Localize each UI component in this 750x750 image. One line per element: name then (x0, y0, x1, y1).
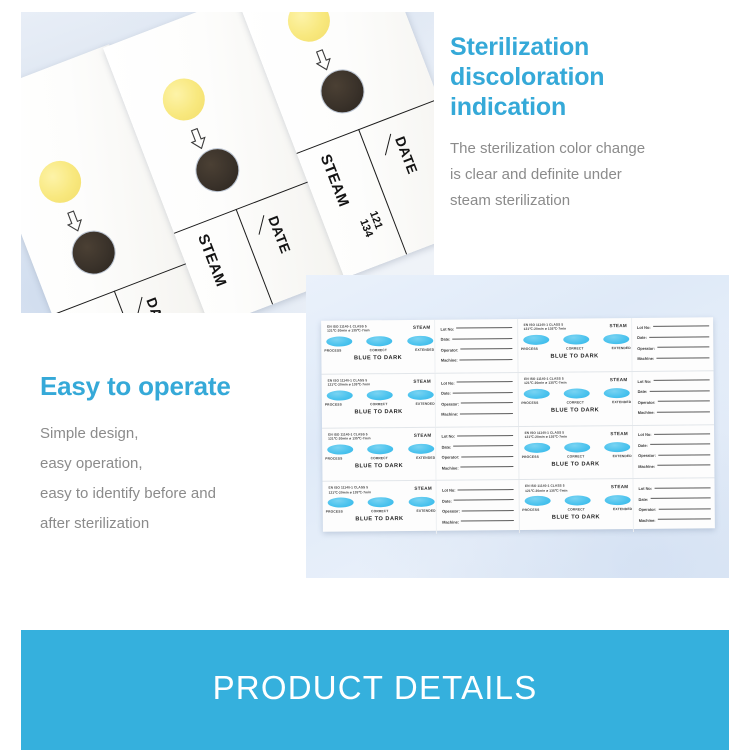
label-field-row: Date: (638, 493, 710, 504)
sterilization-label: EN ISO 11140-1 CLASS 5121℃-20min ø 135℃-… (519, 425, 715, 479)
label-field-row: Machine: (637, 353, 709, 364)
indicator-name-process: PROCESS (521, 347, 538, 351)
label-field-writeline (453, 392, 513, 394)
indicator-dot-unprocessed-1 (33, 155, 87, 209)
indicator-oval-extended (604, 388, 630, 398)
label-fields-area: Lot No:Date:Operator:Machine: (631, 371, 714, 424)
sterilization-label: EN ISO 11140-1 CLASS 5121℃-20min ø 135℃-… (322, 373, 519, 427)
label-field-name: Operator: (441, 347, 459, 352)
label-color-change-text: BLUE TO DARK (321, 355, 434, 362)
label-field-row: Machine: (441, 408, 513, 419)
label-indicator-area: EN ISO 11140-1 CLASS 5121℃-20min ø 135℃-… (518, 318, 632, 372)
sterilization-label: EN ISO 11140-1 CLASS 5121℃-20min ø 135℃-… (518, 317, 714, 371)
indicator-name-correct: CORRECT (370, 348, 387, 352)
arrow-down-icon-2 (187, 126, 210, 152)
label-field-row: Lot No: (441, 431, 513, 442)
body-line-4: after sterilization (40, 509, 305, 539)
label-fields-area: Lot No:Date:Operator:Machine: (435, 427, 518, 480)
feature-body-easy-operate: Simple design, easy operation, easy to i… (40, 419, 305, 539)
label-color-change-text: BLUE TO DARK (519, 461, 632, 468)
indicator-oval-process (327, 444, 353, 454)
indicator-oval-extended (605, 495, 631, 505)
body-line-1: Simple design, (40, 419, 305, 449)
indicator-oval-extended (603, 334, 629, 344)
label-field-row: Date: (441, 387, 513, 398)
label-field-name: Operator: (442, 509, 460, 514)
card-date-mark-3 (385, 134, 391, 156)
product-detail-page: STEAM DATE STEAM DATE STEAM (0, 0, 750, 750)
body-line-3: steam sterilization (450, 188, 730, 214)
feature-body-sterilization: The sterilization color change is clear … (450, 136, 730, 214)
label-field-writeline (457, 435, 513, 436)
indicator-oval-group (524, 442, 631, 453)
indicator-name-extended: EXTENDED (613, 507, 632, 511)
indicator-name-extended: EXTENDED (613, 454, 632, 458)
indicator-name-group: PROCESSCORRECTEXTENDED (326, 509, 436, 514)
indicator-oval-correct (563, 334, 589, 344)
label-field-name: Operator: (639, 507, 657, 512)
label-field-writeline (456, 327, 512, 328)
indicator-oval-correct (564, 442, 590, 452)
label-color-change-text: BLUE TO DARK (323, 516, 436, 523)
label-indicator-area: EN ISO 11140-1 CLASS 5121℃-20min ø 135℃-… (322, 481, 436, 535)
indicator-name-correct: CORRECT (567, 454, 584, 458)
label-field-writeline (461, 456, 513, 457)
label-field-name: Operator: (442, 455, 460, 460)
label-field-row: Date: (638, 386, 710, 397)
product-details-banner: PRODUCT DETAILS (21, 630, 729, 750)
label-field-writeline (461, 520, 514, 521)
label-field-row: Machine: (639, 514, 711, 525)
label-field-writeline (460, 359, 513, 360)
label-field-row: Lot No: (638, 429, 710, 440)
label-field-writeline (460, 413, 513, 414)
indicator-dot-processed-3 (315, 64, 369, 118)
label-fields-area: Lot No:Date:Operator:Machine: (632, 425, 715, 478)
indicator-dot-processed-2 (190, 143, 244, 197)
label-field-name: Lot No: (638, 486, 652, 491)
indicator-name-group: PROCESSCORRECTEXTENDED (325, 455, 435, 460)
label-field-writeline (649, 390, 709, 392)
label-field-name: Machine: (441, 358, 458, 363)
indicator-dot-unprocessed-2 (157, 72, 211, 126)
indicator-name-extended: EXTENDED (612, 400, 631, 404)
heading-line-1: Sterilization (450, 32, 730, 62)
label-field-name: Machine: (442, 465, 459, 470)
feature-block-easy-operate: Easy to operate Simple design, easy oper… (40, 370, 305, 539)
label-sheet-row: EN ISO 11140-1 CLASS 5121℃-20min ø 135℃-… (321, 317, 713, 374)
arrow-down-icon-3 (312, 47, 335, 73)
label-field-row: Lot No: (440, 323, 512, 334)
label-field-name: Lot No: (441, 380, 455, 385)
label-field-name: Date: (442, 444, 452, 449)
feature-heading-easy-operate: Easy to operate (40, 370, 305, 402)
label-field-name: Lot No: (637, 325, 651, 330)
body-line-1: The sterilization color change (450, 136, 730, 162)
label-field-row: Operator: (441, 398, 513, 409)
card-divider-1 (52, 261, 193, 313)
indicator-name-correct: CORRECT (371, 509, 388, 513)
label-fields-area: Lot No:Date:Operator:Machine: (436, 480, 519, 533)
label-indicator-area: EN ISO 11140-1 CLASS 5121℃-20min ø 135℃-… (322, 373, 436, 427)
label-field-row: Machine: (442, 516, 514, 527)
card-date-text-3: DATE (392, 134, 421, 176)
sterilization-label: EN ISO 11140-1 CLASS 5121℃-20min ø 135℃-… (322, 426, 519, 480)
label-sheet-photo: EN ISO 11140-1 CLASS 5121℃-20min ø 135℃-… (306, 275, 729, 578)
card-divider-2 (174, 179, 315, 234)
label-field-writeline (658, 508, 710, 509)
label-color-change-text: BLUE TO DARK (322, 408, 435, 415)
label-field-row: Date: (638, 439, 710, 450)
label-sheet-row: EN ISO 11140-1 CLASS 5121℃-20min ø 135℃-… (322, 425, 714, 482)
indicator-name-correct: CORRECT (567, 400, 584, 404)
label-field-row: Lot No: (442, 484, 514, 495)
indicator-name-group: PROCESSCORRECTEXTENDED (521, 346, 631, 351)
label-field-row: Date: (442, 495, 514, 506)
label-field-name: Machine: (441, 412, 458, 417)
label-steam-text: STEAM (414, 432, 432, 437)
indicator-name-group: PROCESSCORRECTEXTENDED (522, 507, 632, 512)
label-field-writeline (460, 348, 512, 349)
label-indicator-area: EN ISO 11140-1 CLASS 5121℃-20min ø 135℃-… (519, 479, 633, 533)
indicator-oval-group (327, 389, 434, 400)
card-date-text-2: DATE (265, 214, 294, 256)
indicator-name-extended: EXTENDED (612, 346, 631, 350)
label-field-name: Date: (442, 498, 452, 503)
label-field-writeline (657, 347, 709, 348)
label-field-writeline (650, 444, 710, 446)
card-field-divider-1 (114, 290, 140, 313)
indicator-label-sheet: EN ISO 11140-1 CLASS 5121℃-20min ø 135℃-… (321, 317, 715, 531)
indicator-oval-process (326, 336, 352, 346)
indicator-name-extended: EXTENDED (416, 455, 435, 459)
indicator-name-extended: EXTENDED (416, 401, 435, 405)
label-field-name: Operator: (441, 401, 459, 406)
indicator-oval-extended (408, 497, 434, 507)
indicator-oval-extended (408, 443, 434, 453)
sterilization-label: EN ISO 11140-1 CLASS 5121℃-20min ø 135℃-… (321, 319, 518, 373)
indicator-oval-extended (407, 389, 433, 399)
sterilization-cards-photo: STEAM DATE STEAM DATE STEAM (21, 12, 434, 313)
label-field-writeline (654, 433, 710, 434)
label-field-writeline (657, 400, 709, 401)
indicator-oval-group (328, 497, 435, 508)
label-field-row: Lot No: (637, 375, 709, 386)
indicator-oval-process (328, 498, 354, 508)
label-field-name: Machine: (638, 410, 655, 415)
label-steam-text: STEAM (413, 379, 431, 384)
label-field-writeline (658, 518, 711, 519)
label-field-writeline (461, 466, 514, 467)
label-field-writeline (654, 487, 710, 488)
label-field-name: Operator: (637, 346, 655, 351)
indicator-oval-correct (367, 336, 393, 346)
card-steam-text-3: STEAM (317, 152, 353, 209)
label-field-row: Date: (637, 332, 709, 343)
label-field-name: Machine: (639, 517, 656, 522)
indicator-name-group: PROCESSCORRECTEXTENDED (325, 401, 435, 406)
indicator-dot-unprocessed-3 (282, 12, 336, 48)
banner-title: PRODUCT DETAILS (213, 669, 538, 707)
label-field-writeline (461, 402, 513, 403)
label-field-row: Machine: (442, 462, 514, 473)
body-line-2: is clear and definite under (450, 162, 730, 188)
label-field-name: Date: (638, 389, 648, 394)
arrow-down-icon-1 (63, 208, 86, 234)
label-field-row: Lot No: (441, 377, 513, 388)
indicator-oval-extended (604, 442, 630, 452)
label-field-name: Lot No: (637, 378, 651, 383)
label-field-row: Machine: (638, 407, 710, 418)
label-steam-text: STEAM (609, 323, 627, 328)
label-field-row: Lot No: (637, 321, 709, 332)
label-field-name: Machine: (442, 519, 459, 524)
indicator-oval-process (327, 390, 353, 400)
label-field-writeline (653, 326, 709, 327)
label-field-writeline (453, 445, 513, 447)
indicator-dot-processed-1 (67, 225, 121, 279)
label-field-row: Lot No: (638, 483, 710, 494)
indicator-name-correct: CORRECT (566, 346, 583, 350)
card-date-text-1: DATE (143, 295, 172, 313)
indicator-name-extended: EXTENDED (415, 348, 434, 352)
label-indicator-area: EN ISO 11140-1 CLASS 5121℃-20min ø 135℃-… (322, 427, 436, 481)
indicator-oval-process (524, 442, 550, 452)
indicator-oval-group (326, 336, 433, 347)
label-field-writeline (657, 411, 710, 412)
label-field-writeline (649, 336, 709, 338)
indicator-oval-correct (367, 390, 393, 400)
label-color-change-text: BLUE TO DARK (519, 514, 632, 521)
label-field-writeline (458, 489, 514, 490)
label-steam-text: STEAM (414, 486, 432, 491)
indicator-name-process: PROCESS (325, 456, 342, 460)
label-field-name: Date: (638, 443, 648, 448)
label-field-row: Machine: (638, 460, 710, 471)
label-indicator-area: EN ISO 11140-1 CLASS 5121℃-20min ø 135℃-… (518, 372, 632, 426)
label-steam-text: STEAM (413, 325, 431, 330)
label-field-writeline (658, 454, 710, 455)
label-field-row: Operator: (442, 452, 514, 463)
label-field-writeline (454, 499, 514, 501)
label-field-row: Date: (442, 441, 514, 452)
label-field-row: Operator: (638, 450, 710, 461)
label-field-writeline (452, 338, 512, 340)
label-field-writeline (657, 465, 710, 466)
sterilization-label: EN ISO 11140-1 CLASS 5121℃-20min ø 135℃-… (518, 371, 714, 425)
label-field-row: Operator: (638, 396, 710, 407)
label-sheet-row: EN ISO 11140-1 CLASS 5121℃-20min ø 135℃-… (322, 479, 714, 535)
indicator-name-group: PROCESSCORRECTEXTENDED (521, 400, 631, 405)
label-steam-text: STEAM (611, 484, 629, 489)
label-fields-area: Lot No:Date:Operator:Machine: (631, 317, 714, 370)
label-field-writeline (650, 497, 710, 499)
label-field-writeline (656, 357, 709, 358)
card-date-mark-1 (137, 297, 143, 313)
indicator-name-extended: EXTENDED (417, 509, 436, 513)
indicator-oval-correct (368, 497, 394, 507)
label-field-name: Lot No: (441, 434, 455, 439)
label-field-row: Operator: (442, 505, 514, 516)
label-field-row: Operator: (637, 342, 709, 353)
label-fields-area: Lot No:Date:Operator:Machine: (434, 319, 517, 372)
body-line-3: easy to identify before and (40, 479, 305, 509)
indicator-name-process: PROCESS (326, 510, 343, 514)
label-field-row: Operator: (441, 344, 513, 355)
label-steam-text: STEAM (610, 431, 628, 436)
label-field-writeline (457, 381, 513, 382)
label-field-name: Operator: (638, 399, 656, 404)
label-field-name: Date: (639, 496, 649, 501)
label-field-name: Lot No: (638, 432, 652, 437)
indicator-oval-process (523, 388, 549, 398)
body-line-2: easy operation, (40, 449, 305, 479)
indicator-oval-extended (407, 336, 433, 346)
label-fields-area: Lot No:Date:Operator:Machine: (632, 479, 715, 532)
indicator-oval-group (523, 388, 630, 399)
label-field-name: Date: (441, 391, 451, 396)
card-steam-text-2: STEAM (194, 232, 230, 289)
indicator-oval-correct (564, 496, 590, 506)
label-field-name: Lot No: (442, 488, 456, 493)
indicator-name-process: PROCESS (522, 508, 539, 512)
label-steam-text: STEAM (610, 377, 628, 382)
label-indicator-area: EN ISO 11140-1 CLASS 5121℃-20min ø 135℃-… (519, 426, 633, 480)
label-field-name: Machine: (637, 356, 654, 361)
card-date-mark-2 (259, 215, 265, 235)
label-field-row: Date: (441, 334, 513, 345)
label-field-name: Date: (637, 335, 647, 340)
label-field-name: Operator: (638, 453, 656, 458)
indicator-name-process: PROCESS (521, 401, 538, 405)
label-field-name: Date: (441, 337, 451, 342)
indicator-name-process: PROCESS (325, 402, 342, 406)
label-indicator-area: EN ISO 11140-1 CLASS 5121℃-20min ø 135℃-… (321, 320, 435, 374)
heading-line-2: discoloration (450, 62, 730, 92)
label-field-row: Operator: (639, 504, 711, 515)
label-field-writeline (653, 379, 709, 380)
indicator-name-correct: CORRECT (371, 456, 388, 460)
indicator-name-process: PROCESS (324, 349, 341, 353)
label-field-name: Machine: (638, 464, 655, 469)
indicator-name-correct: CORRECT (370, 402, 387, 406)
heading-line-3: indication (450, 92, 730, 122)
indicator-oval-process (524, 496, 550, 506)
label-field-writeline (462, 510, 514, 511)
indicator-name-process: PROCESS (522, 454, 539, 458)
indicator-oval-correct (367, 444, 393, 454)
indicator-oval-group (524, 495, 631, 506)
indicator-name-correct: CORRECT (568, 508, 585, 512)
indicator-oval-process (523, 335, 549, 345)
label-color-change-text: BLUE TO DARK (518, 407, 631, 414)
indicator-name-group: PROCESSCORRECTEXTENDED (324, 348, 434, 353)
indicator-oval-group (523, 334, 630, 345)
feature-heading-sterilization: Sterilization discoloration indication (450, 32, 730, 122)
feature-block-sterilization: Sterilization discoloration indication T… (450, 32, 730, 214)
label-field-row: Machine: (441, 355, 513, 366)
indicator-oval-group (327, 443, 434, 454)
label-color-change-text: BLUE TO DARK (518, 353, 631, 360)
label-color-change-text: BLUE TO DARK (322, 462, 435, 469)
label-sheet-row: EN ISO 11140-1 CLASS 5121℃-20min ø 135℃-… (322, 371, 714, 428)
label-field-name: Lot No: (441, 326, 455, 331)
label-fields-area: Lot No:Date:Operator:Machine: (435, 373, 518, 426)
sterilization-label: EN ISO 11140-1 CLASS 5121℃-20min ø 135℃-… (519, 479, 715, 533)
sterilization-label: EN ISO 11140-1 CLASS 5121℃-20min ø 135℃-… (322, 480, 519, 534)
indicator-name-group: PROCESSCORRECTEXTENDED (522, 454, 632, 459)
indicator-oval-correct (563, 388, 589, 398)
